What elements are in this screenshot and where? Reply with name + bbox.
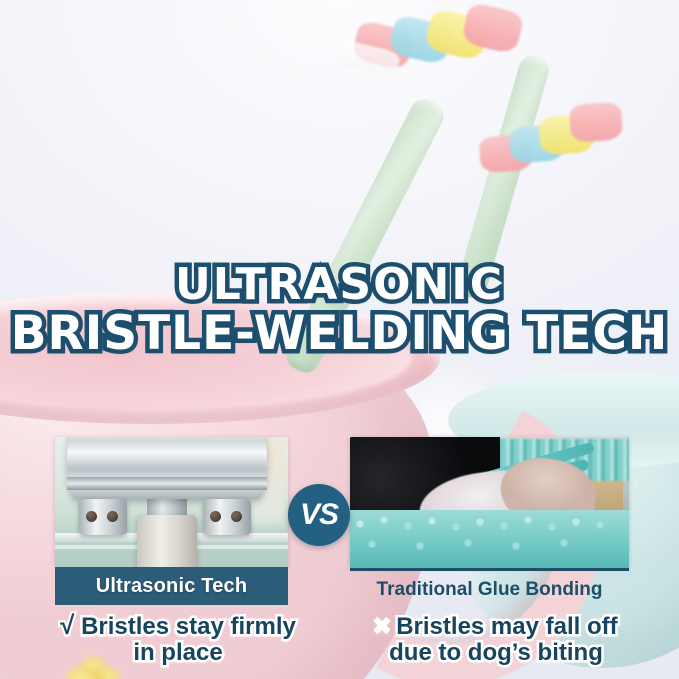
poster-title: ULTRASONIC BRISTLE-WELDING TECH	[0, 262, 679, 358]
panel-glue-bonding: A Traditional Glue Bonding	[350, 437, 629, 609]
cross-icon: ×	[374, 610, 389, 640]
clamp-left-icon	[79, 499, 127, 535]
label-ultrasonic-tech: Ultrasonic Tech	[55, 567, 288, 605]
check-icon: √	[60, 610, 74, 640]
clamp-right-icon	[203, 499, 251, 535]
claim-glue-line-2: due to dog’s biting	[389, 639, 603, 666]
panel-ultrasonic: Ultrasonic Tech	[55, 437, 288, 605]
glue-bonding-photo: A	[350, 437, 629, 568]
product-infographic: ULTRASONIC BRISTLE-WELDING TECH Ultras	[0, 0, 679, 679]
title-line-1: ULTRASONIC	[0, 262, 679, 309]
claim-ultrasonic-line-2: in place	[133, 639, 222, 666]
claim-glue-line-1: Bristles may fall off	[396, 613, 617, 640]
ultrasonic-machine-photo	[55, 437, 288, 567]
claim-glue: × Bristles may fall off due to dog’s bit…	[336, 611, 656, 666]
vs-badge: VS	[288, 484, 350, 546]
comparison-section: Ultrasonic Tech A Traditional Glue Bo	[0, 437, 679, 679]
toothbrush-group	[400, 0, 679, 270]
title-line-2: BRISTLE-WELDING TECH	[0, 309, 679, 359]
claim-ultrasonic-line-1: Bristles stay firmly	[81, 613, 296, 640]
claim-ultrasonic: √ Bristles stay firmly in place	[36, 611, 320, 666]
label-traditional-glue-bonding: Traditional Glue Bonding	[350, 568, 629, 609]
